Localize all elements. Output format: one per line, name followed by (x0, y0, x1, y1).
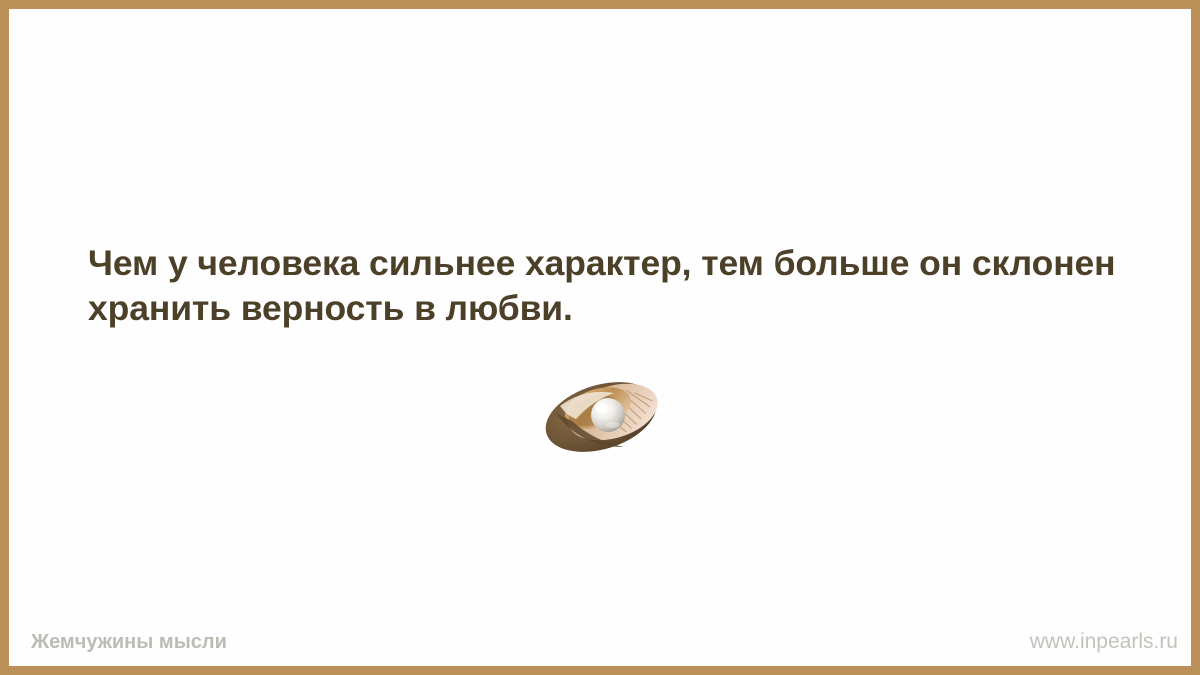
quote-card: Чем у человека сильнее характер, тем бол… (0, 0, 1200, 675)
footer-brand: Жемчужины мысли (31, 629, 227, 655)
footer-url[interactable]: www.inpearls.ru (1030, 629, 1178, 655)
oyster-shell-with-pearl-icon (540, 375, 670, 453)
quote-text: Чем у человека сильнее характер, тем бол… (88, 241, 1128, 331)
